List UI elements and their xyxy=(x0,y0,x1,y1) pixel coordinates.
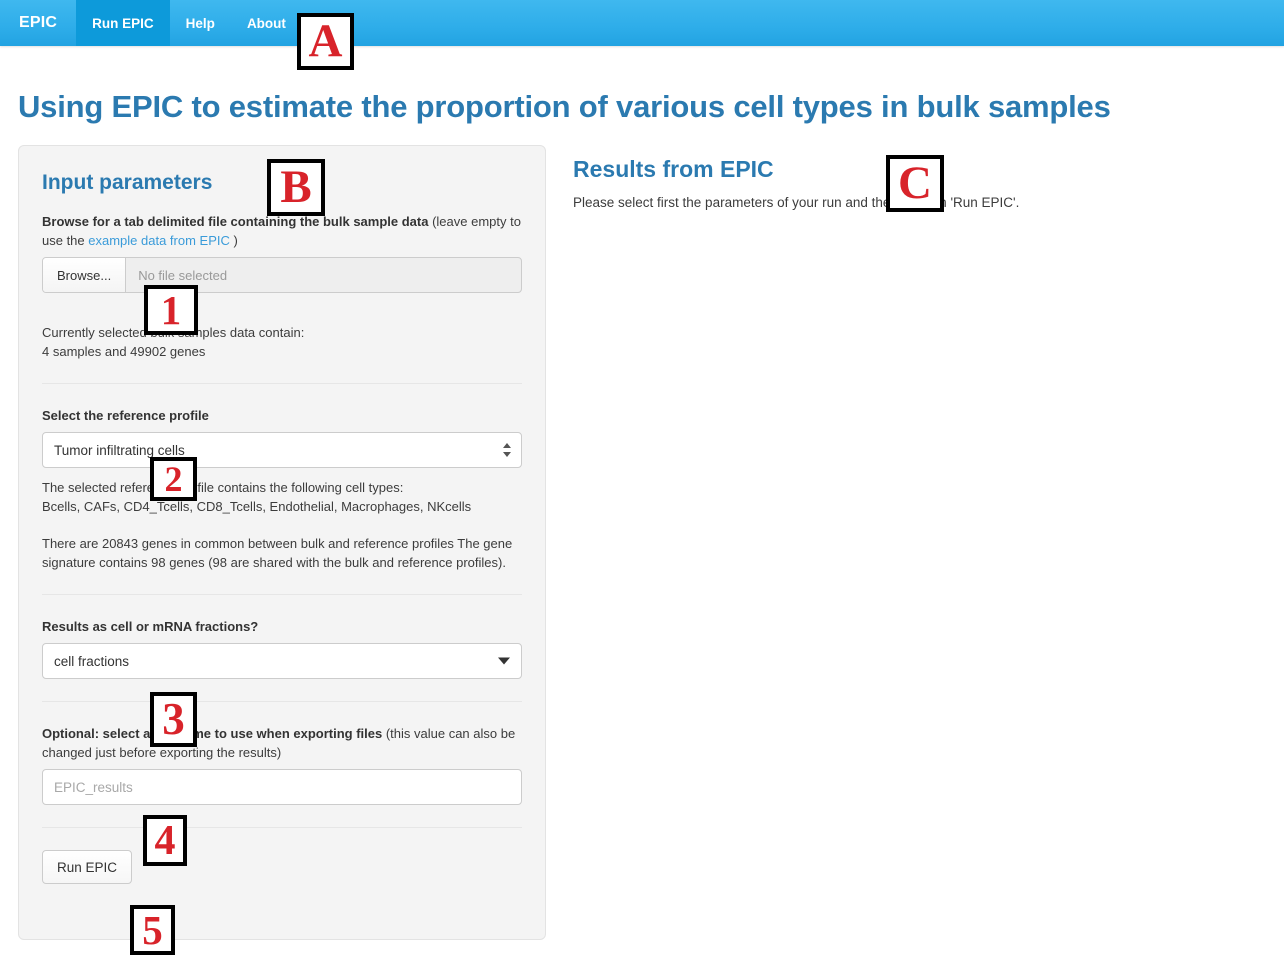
reference-profile-select[interactable]: Tumor infiltrating cells xyxy=(42,432,522,468)
file-upload-label: Browse for a tab delimited file containi… xyxy=(42,212,522,250)
annotation-marker-2: 2 xyxy=(150,457,197,501)
navbar-brand[interactable]: EPIC xyxy=(0,0,76,46)
fractions-select[interactable]: cell fractions xyxy=(42,643,522,679)
annotation-marker-3: 3 xyxy=(150,692,197,747)
example-data-link[interactable]: example data from EPIC xyxy=(88,233,230,248)
jobname-label: Optional: select a job name to use when … xyxy=(42,724,522,762)
annotation-marker-5: 5 xyxy=(130,905,175,955)
annotation-marker-a: A xyxy=(297,13,354,70)
file-upload-label-bold: Browse for a tab delimited file containi… xyxy=(42,214,428,229)
bulk-samples-info: Currently selected bulk samples data con… xyxy=(42,323,522,361)
file-input-group[interactable]: Browse... No file selected xyxy=(42,257,522,293)
run-epic-button[interactable]: Run EPIC xyxy=(42,850,132,884)
nav-item-about[interactable]: About xyxy=(231,0,302,46)
reference-profile-label: Select the reference profile xyxy=(42,406,522,425)
divider-2 xyxy=(42,594,522,595)
input-parameters-panel: Input parameters Browse for a tab delimi… xyxy=(18,145,546,940)
browse-button[interactable]: Browse... xyxy=(43,258,126,292)
reference-celltypes-info: The selected reference profile contains … xyxy=(42,478,522,516)
jobname-input[interactable] xyxy=(42,769,522,805)
divider-1 xyxy=(42,383,522,384)
divider-3 xyxy=(42,701,522,702)
page-title: Using EPIC to estimate the proportion of… xyxy=(18,88,1278,126)
annotation-marker-4: 4 xyxy=(143,815,187,866)
annotation-marker-b: B xyxy=(267,159,325,216)
jobname-label-bold: Optional: select a job name to use when … xyxy=(42,726,382,741)
annotation-marker-1: 1 xyxy=(144,285,198,335)
reference-profile-label-text: Select the reference profile xyxy=(42,408,209,423)
fractions-label: Results as cell or mRNA fractions? xyxy=(42,617,522,636)
divider-4 xyxy=(42,827,522,828)
file-upload-label-rest-2: ) xyxy=(230,233,238,248)
fractions-select-wrap: cell fractions xyxy=(42,643,522,679)
top-navbar: EPIC Run EPIC Help About xyxy=(0,0,1284,46)
nav-item-help[interactable]: Help xyxy=(170,0,231,46)
reference-profile-select-wrap: Tumor infiltrating cells xyxy=(42,432,522,468)
navbar-inner: EPIC Run EPIC Help About xyxy=(0,0,1284,46)
annotation-marker-c: C xyxy=(886,155,944,212)
genes-overlap-info: There are 20843 genes in common between … xyxy=(42,534,522,572)
fractions-label-text: Results as cell or mRNA fractions? xyxy=(42,619,258,634)
nav-item-run-epic[interactable]: Run EPIC xyxy=(76,0,170,46)
